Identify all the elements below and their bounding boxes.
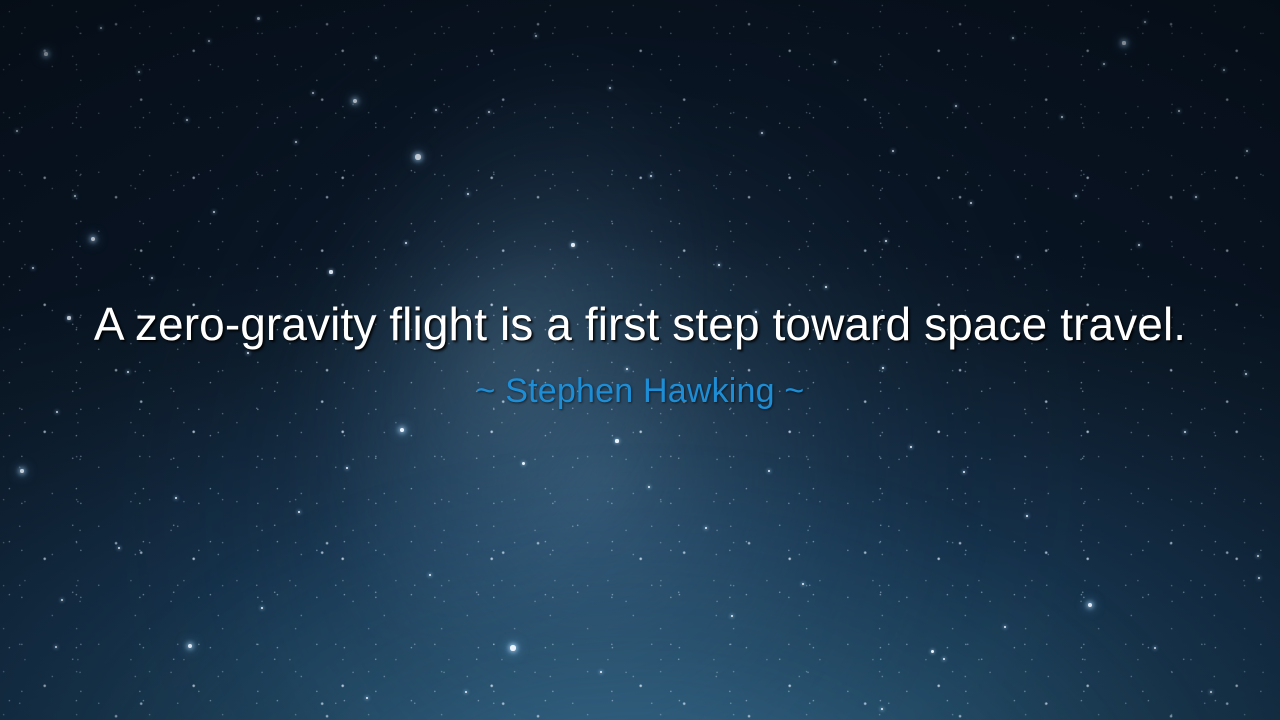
night-sky-background	[0, 0, 1280, 720]
slide-canvas: A zero-gravity flight is a first step to…	[0, 0, 1280, 720]
